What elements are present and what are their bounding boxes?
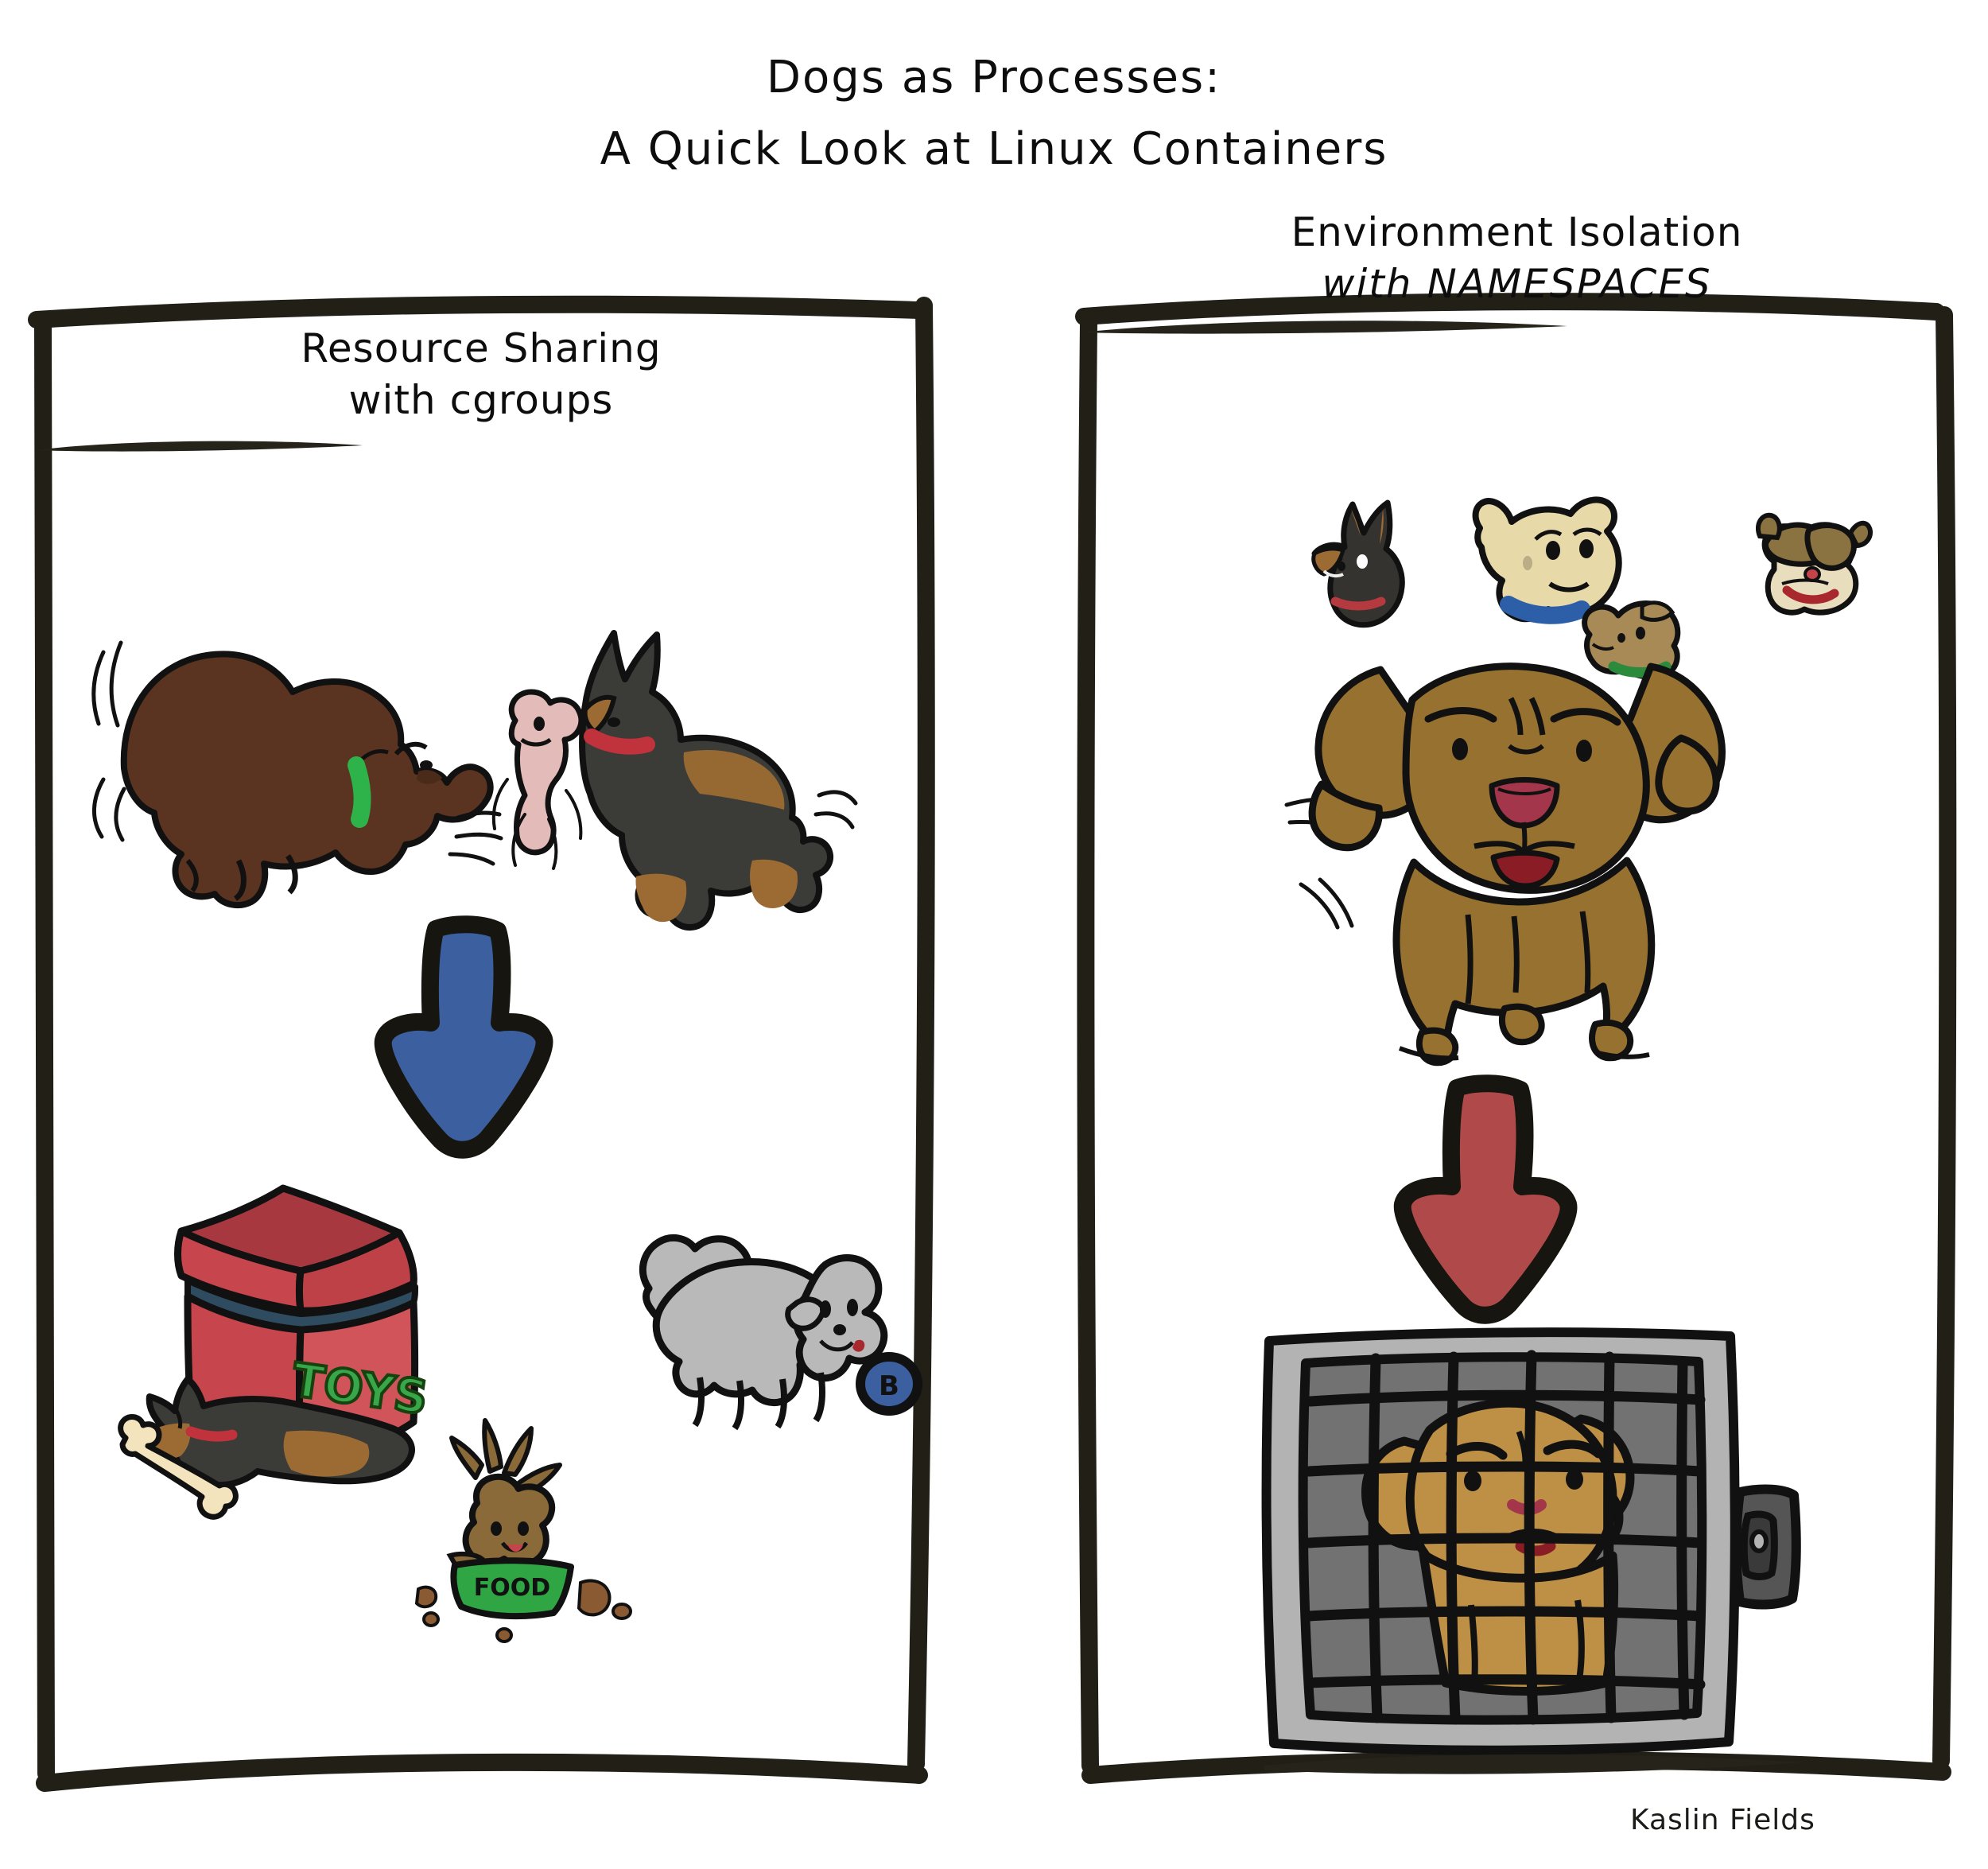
panel-resource-sharing: Resource Sharing with cgroups xyxy=(32,294,930,1797)
pink-chew-toy xyxy=(511,692,581,853)
motion-lines-right xyxy=(816,792,856,827)
artist-signature: Kaslin Fields xyxy=(1630,1804,1815,1836)
grumpy-brown-dog xyxy=(1280,652,1789,1066)
food-bowl-label: FOOD xyxy=(474,1574,550,1602)
cream-labrador-head xyxy=(1476,499,1619,619)
scene-dogs-sharing-resources: TOYS xyxy=(87,1169,899,1662)
title-line-primary: Dogs as Processes: xyxy=(0,56,1988,100)
brown-labrador xyxy=(124,654,491,905)
pug-head xyxy=(1758,515,1870,612)
panel-environment-isolation: Environment Isolation with NAMESPACES xyxy=(1077,294,1956,1789)
heading-line-1: Environment Isolation xyxy=(1077,207,1956,258)
red-down-arrow xyxy=(1392,1074,1582,1320)
page-title: Dogs as Processes: A Quick Look at Linux… xyxy=(0,56,1988,172)
dog-head-icons xyxy=(1300,501,1873,668)
motion-lines-left xyxy=(94,643,124,840)
doberman xyxy=(582,633,830,927)
scene-two-dogs-tug-of-war xyxy=(80,581,875,899)
blue-ball: B xyxy=(860,1357,918,1411)
dog-crate xyxy=(1256,1320,1813,1782)
dog-eating-from-bowl: FOOD xyxy=(417,1420,631,1642)
grey-poodle xyxy=(643,1238,883,1428)
crate-ground-shadow xyxy=(1264,1754,1805,1774)
doberman-head xyxy=(1314,503,1403,625)
title-line-secondary: A Quick Look at Linux Containers xyxy=(0,127,1988,172)
blue-down-arrow xyxy=(374,915,557,1161)
crate-latch[interactable] xyxy=(1737,1490,1796,1605)
blue-ball-label: B xyxy=(879,1370,899,1402)
